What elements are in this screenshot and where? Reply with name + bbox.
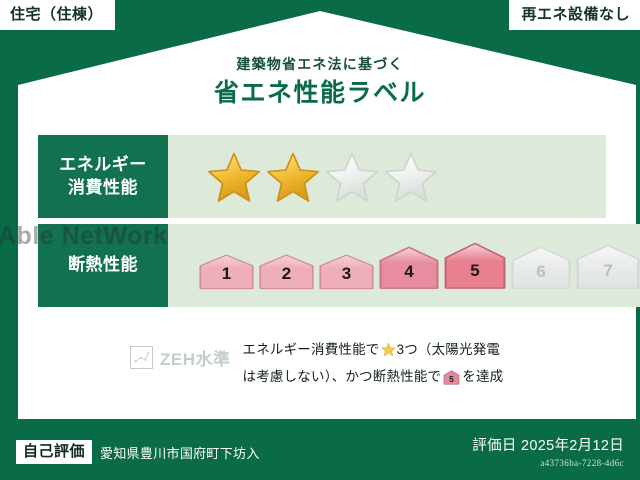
inline-star-icon [381,341,396,365]
rating-rows: エネルギー 消費性能 断熱性能 1234567 [38,135,606,307]
evaluation-date: 評価日 2025年2月12日 [472,434,624,455]
evaluation-id: a43736ba-7228-4d6c [472,458,624,468]
star-rating [206,150,439,204]
house-grade-number: 2 [258,265,315,282]
house-grade-number: 4 [378,263,440,280]
star-icon-filled [206,150,262,204]
row-energy-label: エネルギー 消費性能 [38,135,168,218]
house-grade-number: 7 [575,262,640,279]
zeh-mark: ZEH水準 [130,336,231,370]
footer-right: 評価日 2025年2月12日 a43736ba-7228-4d6c [472,434,624,468]
row-insulation-label-line1: 断熱性能 [68,254,138,277]
page-title: 省エネ性能ラベル [0,79,640,108]
inline-house-value: 5 [449,375,454,384]
label-title-block: 建築物省エネ法に基づく 省エネ性能ラベル [0,56,640,108]
evaluation-date-value: 2025年2月12日 [521,438,624,454]
house-badge-empty: 7 [575,244,640,290]
house-grade-number: 1 [198,265,255,282]
renewable-energy-tag: 再エネ設備なし [509,0,640,30]
row-energy-label-line1: エネルギー [59,154,147,177]
house-badge-filled: 3 [318,254,375,290]
star-icon-empty [383,150,439,204]
zeh-desc-part3: を達成 [462,369,503,384]
house-badge-filled: 5 [443,242,507,290]
star-icon-empty [324,150,380,204]
row-insulation-value: 1234567 [168,224,640,307]
house-badge-filled: 2 [258,254,315,290]
row-insulation: 断熱性能 1234567 [38,224,606,307]
self-evaluation-badge: 自己評価 [16,440,92,464]
property-address: 愛知県豊川市国府町下坊入 [100,443,260,462]
zeh-description: エネルギー消費性能で 3つ（太陽光発電 は考慮しない）、かつ断熱性能で 5 を達… [243,336,504,393]
footer-left: 自己評価 愛知県豊川市国府町下坊入 [16,440,260,464]
zeh-desc-star-count: 3つ（太陽光発電 [397,342,501,357]
house-grade-number: 5 [443,262,507,279]
zeh-desc-part2: は考慮しない）、かつ断熱性能で [243,369,442,384]
house-grade-number: 3 [318,265,375,282]
row-energy-value [168,135,606,218]
row-energy-label-line2: 消費性能 [68,177,138,200]
house-badge-filled: 4 [378,246,440,290]
row-energy-consumption: エネルギー 消費性能 [38,135,606,218]
zeh-label: ZEH水準 [160,345,231,370]
house-badge-filled: 1 [198,254,255,290]
evaluation-date-label: 評価日 [472,438,516,454]
house-rating: 1234567 [198,242,640,290]
zeh-desc-part1: エネルギー消費性能で [243,342,380,357]
energy-performance-label: 住宅（住棟） 再エネ設備なし 建築物省エネ法に基づく 省エネ性能ラベル エネルギ… [0,0,640,480]
building-type-tag: 住宅（住棟） [0,0,115,30]
row-insulation-label: 断熱性能 [38,224,168,307]
house-badge-empty: 6 [510,246,572,290]
house-grade-number: 6 [510,263,572,280]
zeh-standard-block: ZEH水準 エネルギー消費性能で 3つ（太陽光発電 は考慮しない）、かつ断熱性能… [130,336,550,393]
title-subtitle: 建築物省エネ法に基づく [0,56,640,73]
inline-house-icon: 5 [443,369,460,393]
zeh-checkbox-icon [130,346,153,369]
star-icon-filled [265,150,321,204]
